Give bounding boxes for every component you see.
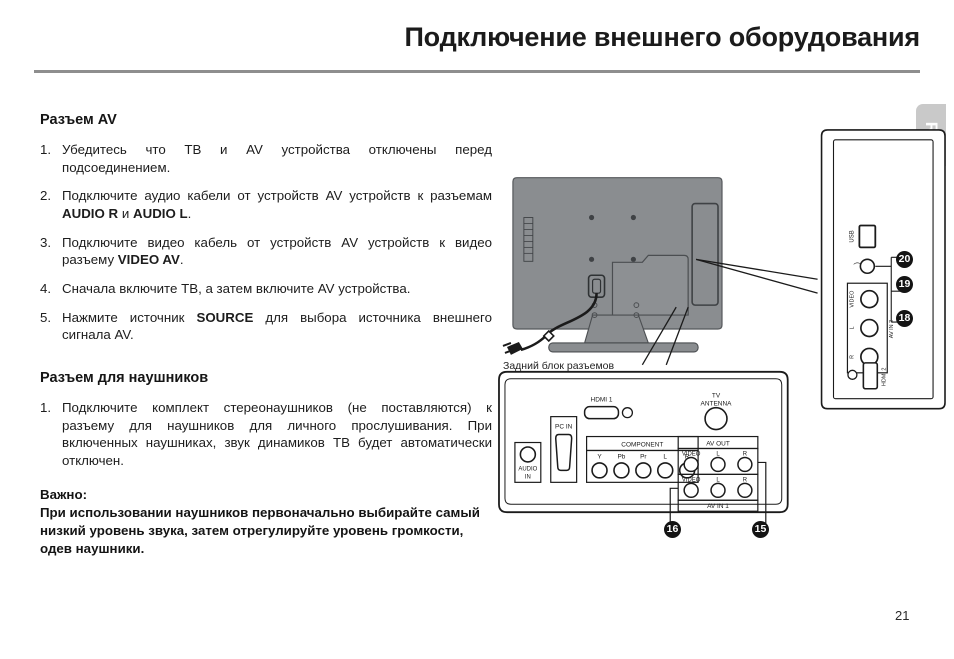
list-number: 5. [40, 309, 51, 327]
list-number: 2. [40, 187, 51, 205]
av-out-right-jack [738, 457, 752, 471]
tv-antenna-label-2: ANTENNA [701, 401, 733, 408]
av-out-video-jack [684, 457, 698, 471]
list-number: 1. [40, 399, 51, 417]
list-item: 4. Сначала включите ТВ, а затем включите… [40, 280, 492, 298]
usb-port-icon [859, 225, 875, 247]
rear-panel-caption: Задний блок разъемов [503, 360, 614, 372]
tv-antenna-jack [705, 408, 727, 430]
page-number: 21 [895, 608, 909, 623]
av-in-2-left-jack [861, 320, 878, 337]
title-divider [34, 70, 920, 73]
pc-in-vga-port-icon [556, 435, 572, 471]
important-note: Важно: При использовании наушников перво… [40, 486, 492, 558]
callout-20: 20 [896, 251, 913, 268]
component-label: COMPONENT [621, 441, 663, 448]
list-text: Убедитесь что ТВ и AV устройства отключе… [62, 142, 492, 175]
callout-16: 16 [664, 521, 681, 538]
audio-in-label-2: IN [525, 474, 531, 480]
component-pr-jack [636, 463, 651, 478]
tv-stand-base [549, 343, 698, 352]
connection-illustration: USB ⌒ VIDEO L R AV IN 2 HDMI 2 [488, 108, 954, 558]
section-heading-headphones: Разъем для наушников [40, 370, 492, 386]
list-text: Нажмите источник SOURCE для выбора источ… [62, 310, 492, 343]
audio-in-jack [520, 447, 535, 462]
usb-label: USB [849, 230, 855, 242]
list-item: 1. Убедитесь что ТВ и AV устройства откл… [40, 141, 492, 176]
component-y-jack [592, 463, 607, 478]
list-number: 3. [40, 234, 51, 252]
callout-19: 19 [896, 276, 913, 293]
callout-18: 18 [896, 310, 913, 327]
headphone-steps-list: 1. Подключите комплект стереонаушников (… [40, 399, 492, 470]
hdmi-1-label: HDMI 1 [591, 397, 613, 404]
important-note-body: При использовании наушников первоначальн… [40, 505, 480, 556]
manual-page: Подключение внешнего оборудования RU Раз… [0, 0, 954, 659]
rear-connector-panel: AUDIO IN PC IN HDMI 1 COMPONENT Y [499, 372, 788, 526]
headphone-jack-icon [860, 259, 874, 273]
side-port-panel: USB ⌒ VIDEO L R AV IN 2 HDMI 2 [822, 130, 945, 409]
component-pb-jack [614, 463, 629, 478]
av-in-2-video-jack [861, 291, 878, 308]
list-item: 2. Подключите аудио кабели от устройств … [40, 187, 492, 222]
av-in-1-video-label: VIDEO [682, 477, 701, 483]
hdmi-1-screw [622, 408, 632, 418]
callout-15: 15 [752, 521, 769, 538]
list-number: 4. [40, 280, 51, 298]
av-in-2-right-label: R [849, 355, 855, 359]
headphone-symbol: ⌒ [853, 262, 861, 271]
cable-clip [544, 331, 554, 341]
av-in-2-video-label: VIDEO [849, 291, 855, 308]
list-item: 1. Подключите комплект стереонаушников (… [40, 399, 492, 470]
av-in-1-jacks [684, 483, 752, 497]
hdmi-2-label: HDMI 2 [881, 368, 887, 387]
pc-in-label: PC IN [555, 424, 573, 431]
hdmi-2-port-icon [863, 363, 877, 389]
hdmi-2-screw [848, 370, 857, 379]
av-in-1-left-jack [711, 483, 725, 497]
text-column: Разъем AV 1. Убедитесь что ТВ и AV устро… [40, 112, 492, 558]
tv-stand-neck [585, 315, 649, 343]
tv-rear-view [503, 178, 722, 355]
tv-side-port-recess [692, 204, 718, 306]
list-text: Подключите аудио кабели от устройств AV … [62, 188, 492, 221]
audio-in-label-1: AUDIO [518, 466, 537, 472]
av-out-right-label: R [743, 451, 748, 457]
important-note-lead: Важно: [40, 486, 492, 504]
av-out-jacks [684, 457, 752, 471]
list-item: 5. Нажмите источник SOURCE для выбора ис… [40, 309, 492, 344]
av-in-1-right-label: R [743, 477, 748, 483]
av-in-2-left-label: L [849, 326, 855, 329]
av-out-video-label: VIDEO [682, 451, 701, 457]
list-text: Подключите видео кабель от устройств AV … [62, 235, 492, 268]
av-steps-list: 1. Убедитесь что ТВ и AV устройства откл… [40, 141, 492, 344]
power-plug [503, 342, 523, 355]
av-out-label: AV OUT [706, 440, 730, 447]
rear-connector-bay [612, 255, 688, 315]
section-heading-av: Разъем AV [40, 112, 492, 128]
av-out-left-jack [711, 457, 725, 471]
component-pr-label: Pr [640, 453, 647, 460]
av-in-1-right-jack [738, 483, 752, 497]
av-in-1-label: AV IN 1 [707, 503, 729, 510]
tv-antenna-label-1: TV [712, 393, 721, 400]
list-text: Подключите комплект стереонаушников (не … [62, 400, 492, 468]
component-l-jack [658, 463, 673, 478]
component-y-label: Y [597, 453, 602, 460]
page-title: Подключение внешнего оборудования [0, 22, 930, 53]
list-item: 3. Подключите видео кабель от устройств … [40, 234, 492, 269]
component-l-label: L [663, 453, 667, 460]
hdmi-1-port-icon [585, 407, 619, 419]
component-pb-label: Pb [617, 453, 625, 460]
control-button-strip [524, 218, 533, 262]
list-number: 1. [40, 141, 51, 159]
av-in-1-video-jack [684, 483, 698, 497]
list-text: Сначала включите ТВ, а затем включите AV… [62, 281, 410, 296]
